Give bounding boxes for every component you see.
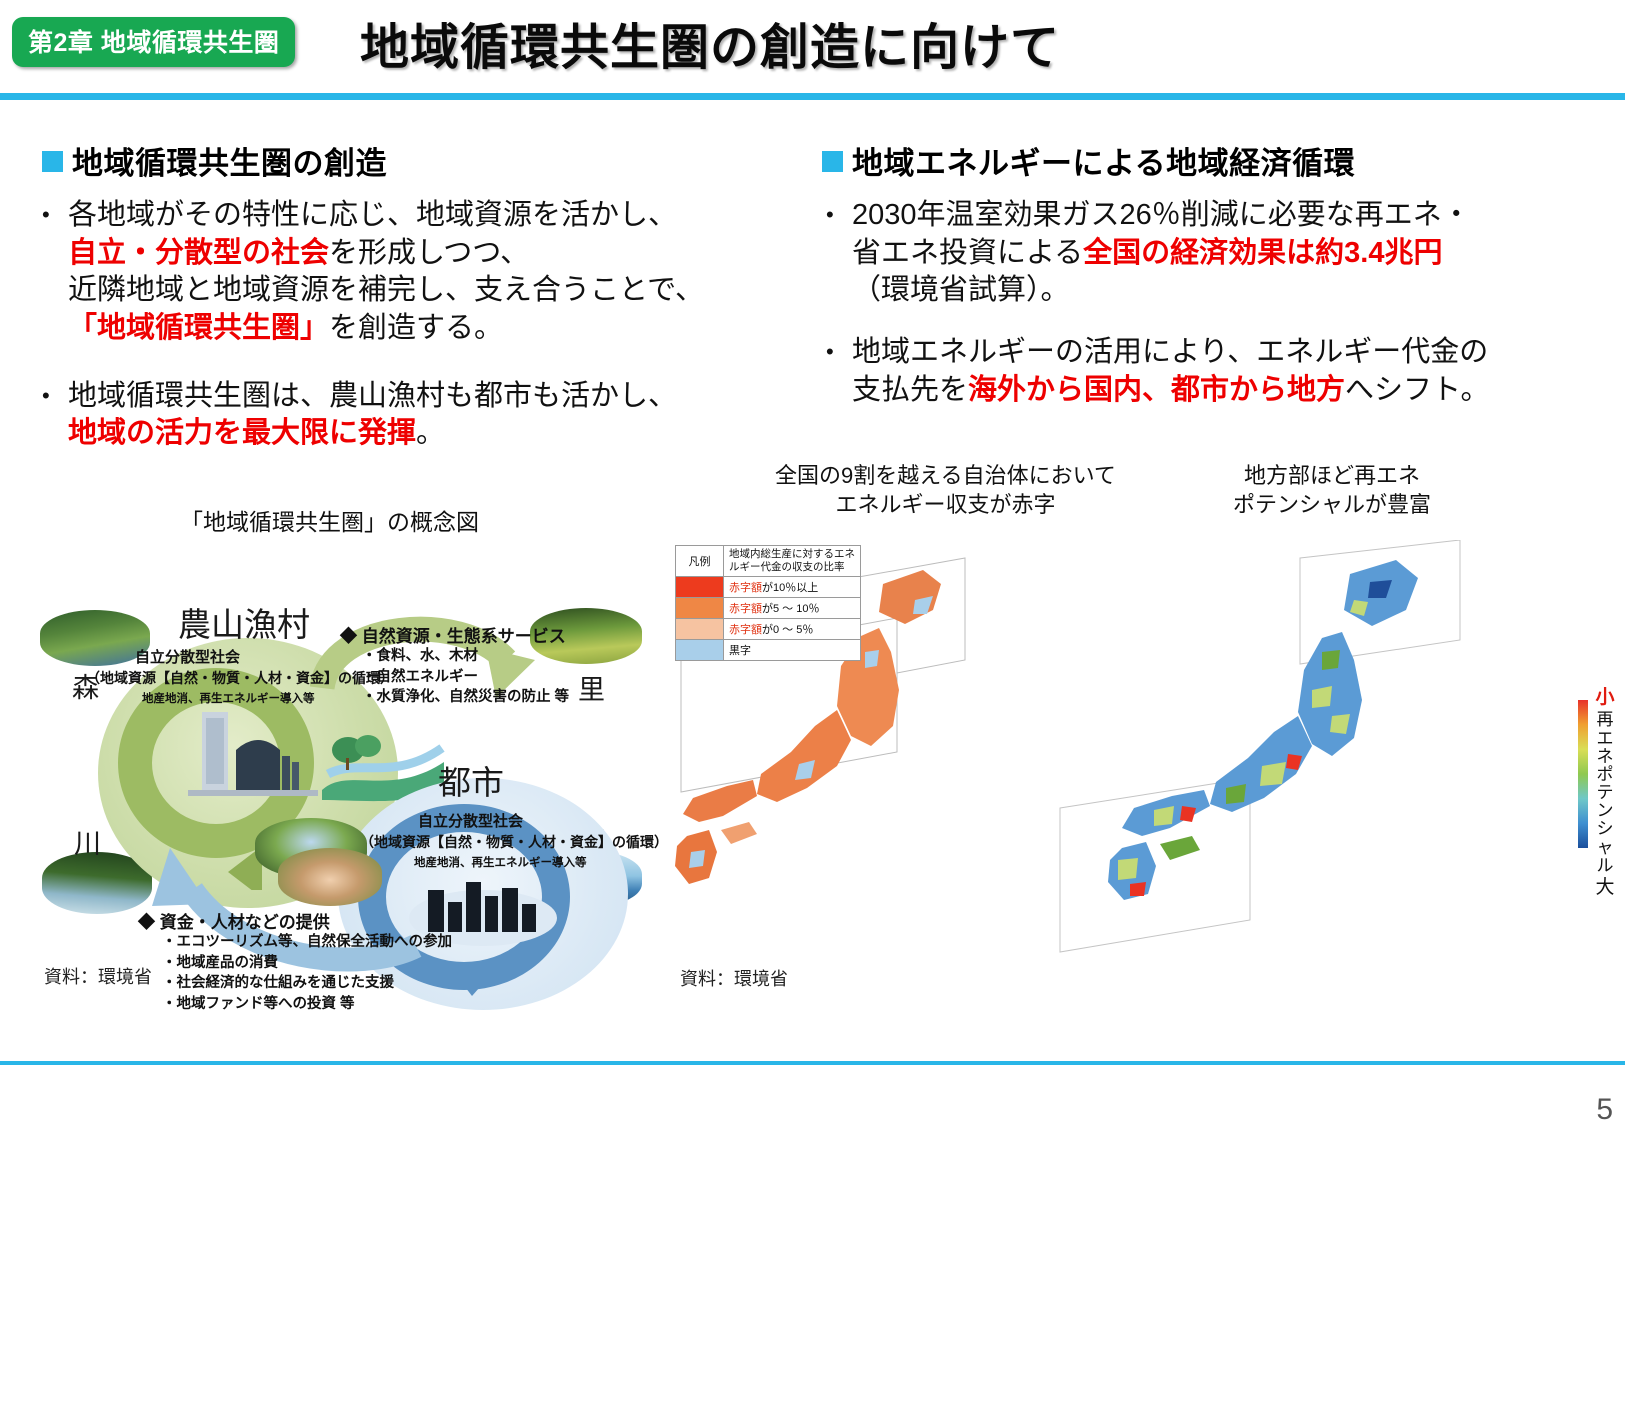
axis-label-large: 大 [1592,878,1618,898]
japan-map-co2-svg [1050,540,1470,1000]
rural-ring-note: 地産地消、再生エネルギー導入等 [142,690,315,706]
right-map-renewable-potential: CO₂排出量密度 1,000トンCO₂/ha 0.26～0.11～0.250.0… [1050,540,1470,1000]
renewable-potential-axis-labels: 小 再エネポテンシャル 大 [1592,688,1618,898]
note-item: ・地域ファンド等への投資 等 [162,994,452,1015]
square-bullet-icon [822,151,843,172]
axis-vertical-char: ン [1592,802,1618,820]
renewable-potential-gradient-bar [1578,700,1588,848]
plain-text: 省エネ投資による [852,237,1083,269]
left-map-source-label: 資料：環境省 [680,965,788,991]
plain-text: 地域エネルギーの活用により、エネルギー代金の [852,336,1488,368]
emphasis-text: 海外から国内、都市から地方 [968,374,1345,406]
bullet-text: 地域エネルギーの活用により、エネルギー代金の支払先を海外から国内、都市から地方へ… [852,334,1489,409]
legend-label-rest: が10％以上 [762,582,818,594]
note-item: ・水質浄化、自然災害の防止 等 [362,687,569,708]
legend-label-rest: 黒字 [729,645,751,657]
axis-vertical-char: テ [1592,784,1618,802]
plain-text: 2030年温室効果ガス26％削減に必要な再エネ・ [852,199,1471,231]
bullet-text: 2030年温室効果ガス26％削減に必要な再エネ・省エネ投資による全国の経済効果は… [852,197,1471,310]
plain-text: 。 [416,417,445,449]
city-ring-title: 自立分散型社会 [418,810,523,831]
rural-ring-title: 自立分散型社会 [135,646,240,667]
note-item: ・食料、水、木材 [362,646,569,667]
bullet-item: •地域循環共生圏は、農山漁村も都市も活かし、地域の活力を最大限に発揮。 [42,378,704,453]
left-heading-label: 地域循環共生圏の創造 [72,146,387,181]
bullet-line: 自立・分散型の社会を形成しつつ、 [68,235,704,273]
axis-vertical-char: ャ [1592,839,1618,857]
legend-color-swatch [676,576,724,597]
legend-row: 赤字額が10％以上 [676,576,861,597]
page-title: 地域循環共生圏の創造に向けて [360,8,1060,79]
photo-label-village: 里 [578,668,605,707]
right-heading-label: 地域エネルギーによる地域経済循環 [852,146,1355,181]
plain-text: 各地域がその特性に応じ、地域資源を活かし、 [68,199,677,231]
axis-vertical-char: シ [1592,820,1618,838]
bullet-item: •各地域がその特性に応じ、地域資源を活かし、自立・分散型の社会を形成しつつ、近隣… [42,197,704,348]
bullet-line: 地域循環共生圏は、農山漁村も都市も活かし、 [68,378,677,416]
legend-color-swatch [676,639,724,660]
axis-label-small: 小 [1592,688,1618,708]
legend-color-swatch [676,597,724,618]
legend-label-emphasis: 赤字額 [729,624,762,636]
axis-vertical-char: ネ [1592,748,1618,766]
funds-people-note-title: ◆ 資金・人材などの提供 [138,908,330,933]
plain-text: 地域循環共生圏は、農山漁村も都市も活かし、 [68,380,677,412]
funds-people-note-items: ・エコツーリズム等、自然保全活動への参加・地域産品の消費・社会経済的な仕組みを通… [162,932,452,1014]
left-map-caption: 全国の9割を越える自治体において エネルギー収支が赤字 [775,461,1116,519]
bullet-line: 支払先を海外から国内、都市から地方へシフト。 [852,372,1489,410]
left-column-heading: 地域循環共生圏の創造 [42,138,387,183]
axis-vertical-char: ポ [1592,766,1618,784]
right-map-caption: 地方部ほど再エネ ポテンシャルが豊富 [1233,461,1431,519]
bullet-marker: • [42,197,68,348]
bullet-line: 「地域循環共生圏」を創造する。 [68,310,704,348]
concept-diagram: 森 里 川 海 農山漁村 自立分散型社会 （地域資源【自然・物質・人材・資金】の… [10,560,660,980]
axis-vertical-char: ル [1592,857,1618,875]
axis-vertical-char: エ [1592,730,1618,748]
legend-label: 赤字額が5 ～ 10％ [724,597,861,618]
bullet-marker: • [826,197,852,310]
plain-text: （環境省試算）。 [852,274,1070,306]
legend-label-emphasis: 赤字額 [729,603,762,615]
axis-label-vertical-text: 再エネポテンシャル [1592,711,1618,875]
plain-text: を創造する。 [329,312,503,344]
bullet-line: 各地域がその特性に応じ、地域資源を活かし、 [68,197,704,235]
legend-header-col1: 凡例 [676,546,724,577]
legend-row: 赤字額が5 ～ 10％ [676,597,861,618]
page-number: 5 [1596,1093,1613,1127]
footer-divider [0,1061,1625,1065]
note-item: ・社会経済的な仕組みを通じた支援 [162,973,452,994]
bullet-line: 地域の活力を最大限に発揮。 [68,415,677,453]
bullet-line: 地域エネルギーの活用により、エネルギー代金の [852,334,1489,372]
legend-row: 赤字額が0 ～ 5％ [676,618,861,639]
bullet-marker: • [826,334,852,409]
bullet-item: •地域エネルギーの活用により、エネルギー代金の支払先を海外から国内、都市から地方… [826,334,1489,409]
plain-text: 支払先を [852,374,968,406]
plain-text: 近隣地域と地域資源を補完し、支え合うことで、 [68,274,704,306]
axis-vertical-char: 再 [1592,711,1618,729]
bullet-text: 各地域がその特性に応じ、地域資源を活かし、自立・分散型の社会を形成しつつ、近隣地… [68,197,704,348]
concept-figure-caption: 「地域循環共生圏」の概念図 [180,503,479,537]
legend-label-rest: が0 ～ 5％ [762,624,813,636]
bullet-line: 2030年温室効果ガス26％削減に必要な再エネ・ [852,197,1471,235]
right-column-heading: 地域エネルギーによる地域経済循環 [822,138,1355,183]
plain-text: を形成しつつ、 [329,237,529,269]
bullet-item: •2030年温室効果ガス26％削減に必要な再エネ・省エネ投資による全国の経済効果… [826,197,1489,310]
left-map-legend: 凡例 地域内総生産に対するエネ ルギー代金の収支の比率 赤字額が10％以上赤字額… [675,545,861,661]
emphasis-text: 全国の経済効果は約3.4兆円 [1083,237,1442,269]
bullet-marker: • [42,378,68,453]
bullet-text: 地域循環共生圏は、農山漁村も都市も活かし、地域の活力を最大限に発揮。 [68,378,677,453]
legend-header-row: 凡例 地域内総生産に対するエネ ルギー代金の収支の比率 [676,546,861,577]
legend-label-rest: が5 ～ 10％ [762,603,819,615]
legend-label: 赤字額が10％以上 [724,576,861,597]
legend-row: 黒字 [676,639,861,660]
note-item: ・自然エネルギー [362,667,569,688]
square-bullet-icon [42,151,63,172]
bullet-line: 省エネ投資による全国の経済効果は約3.4兆円 [852,235,1471,273]
left-column-bullets: •各地域がその特性に応じ、地域資源を活かし、自立・分散型の社会を形成しつつ、近隣… [42,197,704,453]
photo-label-river: 川 [74,822,101,861]
photo-forest [40,610,150,666]
city-ring-subtitle: （地域資源【自然・物質・人材・資金】の循環） [360,832,668,852]
natural-resources-note-items: ・食料、水、木材・自然エネルギー・水質浄化、自然災害の防止 等 [362,646,569,708]
note-item: ・地域産品の消費 [162,953,452,974]
slide-header: 第2章 地域循環共生圏 地域循環共生圏の創造に向けて [0,0,1625,92]
chapter-badge: 第2章 地域循環共生圏 [12,17,295,67]
right-column-bullets: •2030年温室効果ガス26％削減に必要な再エネ・省エネ投資による全国の経済効果… [826,197,1489,409]
bullet-line: （環境省試算）。 [852,272,1471,310]
legend-color-swatch [676,618,724,639]
legend-label-emphasis: 赤字額 [729,582,762,594]
note-item: ・エコツーリズム等、自然保全活動への参加 [162,932,452,953]
rural-label: 農山漁村 [178,598,310,646]
rural-building-icon [188,708,318,808]
legend-label: 赤字額が0 ～ 5％ [724,618,861,639]
legend-label: 黒字 [724,639,861,660]
city-label: 都市 [438,756,504,804]
left-map-energy-balance: 凡例 地域内総生産に対するエネ ルギー代金の収支の比率 赤字額が10％以上赤字額… [665,540,1095,1000]
natural-resources-note-title: ◆ 自然資源・生態系サービス [340,622,566,647]
emphasis-text: 「地域循環共生圏」 [68,312,329,344]
emphasis-text: 地域の活力を最大限に発揮 [68,417,416,449]
photo-hands [278,848,382,906]
header-divider [0,93,1625,100]
emphasis-text: 自立・分散型の社会 [68,237,329,269]
rural-ring-subtitle: （地域資源【自然・物質・人材・資金】の循環） [86,668,394,688]
plain-text: へシフト。 [1345,374,1489,406]
bullet-line: 近隣地域と地域資源を補完し、支え合うことで、 [68,272,704,310]
legend-header-col2: 地域内総生産に対するエネ ルギー代金の収支の比率 [724,546,861,577]
